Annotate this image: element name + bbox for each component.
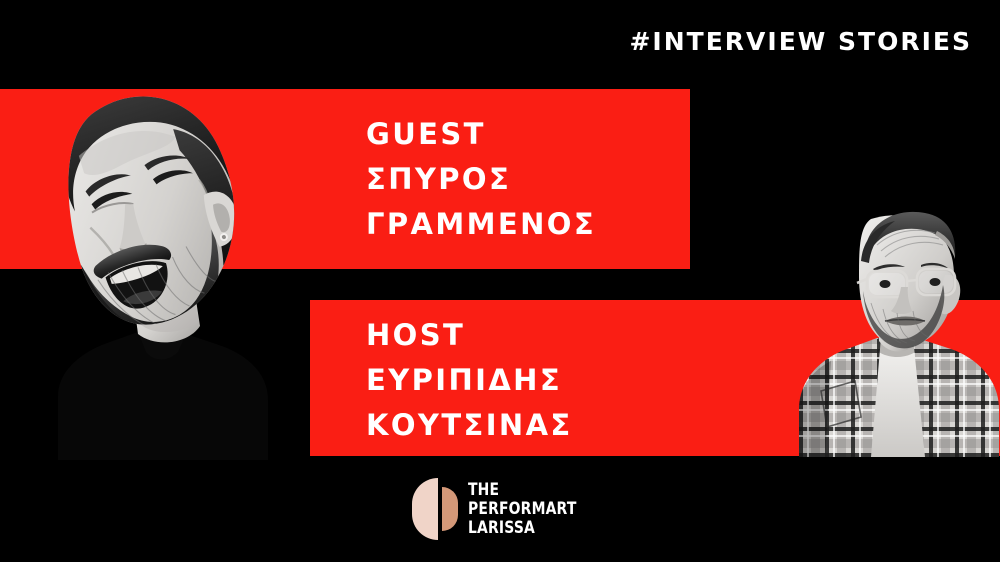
performart-logo: THE PERFORMART LARISSA [412, 478, 600, 540]
guest-portrait [10, 60, 310, 460]
guest-role-label: GUEST [366, 112, 596, 157]
host-role-label: HOST [366, 313, 573, 358]
host-last-name: ΚΟΥΤΣΙΝΑΣ [366, 403, 573, 448]
logo-line-the: THE [468, 481, 577, 500]
logo-line-larissa: LARISSA [468, 519, 577, 538]
mark-left-halfdisc [412, 478, 438, 540]
mark-right-halfdisc [442, 487, 458, 531]
performart-butterfly-mark [412, 478, 458, 540]
host-portrait [785, 205, 1000, 457]
performart-logo-text: THE PERFORMART LARISSA [468, 481, 600, 538]
host-first-name: ΕΥΡΙΠΙΔΗΣ [366, 358, 573, 403]
hashtag-label: #INTERVIEW STORIES [629, 27, 972, 56]
logo-line-performart: PERFORMART [468, 500, 577, 519]
guest-last-name: ΓΡΑΜΜΕΝΟΣ [366, 202, 596, 247]
host-credit-block: HOST ΕΥΡΙΠΙΔΗΣ ΚΟΥΤΣΙΝΑΣ [366, 313, 573, 448]
guest-first-name: ΣΠΥΡΟΣ [366, 157, 596, 202]
interview-stories-card: #INTERVIEW STORIES [0, 0, 1000, 562]
guest-credit-block: GUEST ΣΠΥΡΟΣ ΓΡΑΜΜΕΝΟΣ [366, 112, 596, 247]
